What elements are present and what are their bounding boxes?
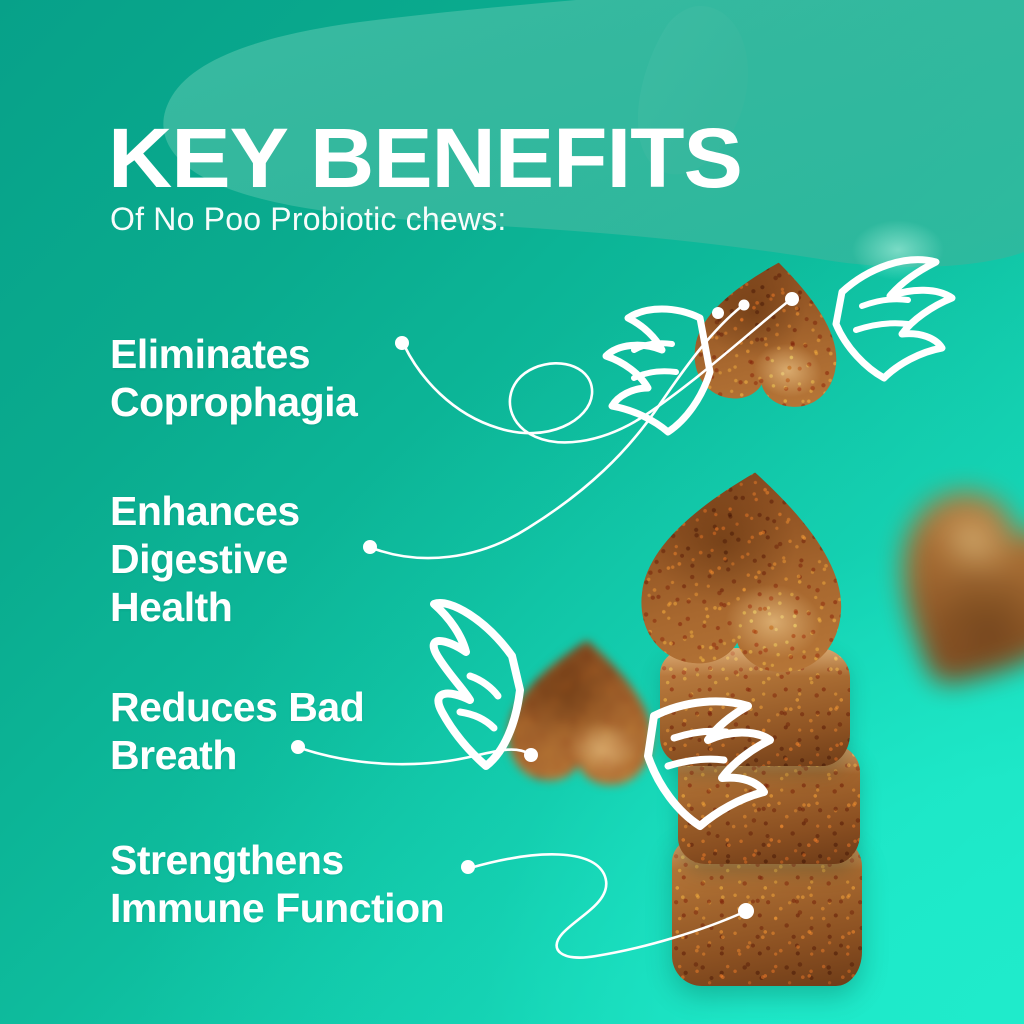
chew-flying-top <box>694 258 844 406</box>
chew-flying-middle <box>506 636 658 786</box>
benefit-item-reduces-bad-breath: Reduces Bad Breath <box>110 683 364 779</box>
page-title: KEY BENEFITS <box>108 116 742 200</box>
connector-dot-text-1 <box>395 336 409 350</box>
key-benefits-poster: KEY BENEFITS Of No Poo Probiotic chews: … <box>0 0 1024 1024</box>
chew-stack-top-heart <box>640 466 850 672</box>
chew-blurred-right <box>884 500 1024 690</box>
connector-dot-text-2 <box>363 540 377 554</box>
connector-dot-text-4 <box>461 860 475 874</box>
wing-top-right <box>836 260 952 378</box>
benefit-item-strengthens-immune-function: Strengthens Immune Function <box>110 836 444 932</box>
benefit-item-eliminates-coprophagia: Eliminates Coprophagia <box>110 330 357 426</box>
benefit-item-enhances-digestive-health: Enhances Digestive Health <box>110 487 300 631</box>
page-subtitle: Of No Poo Probiotic chews: <box>110 200 506 238</box>
